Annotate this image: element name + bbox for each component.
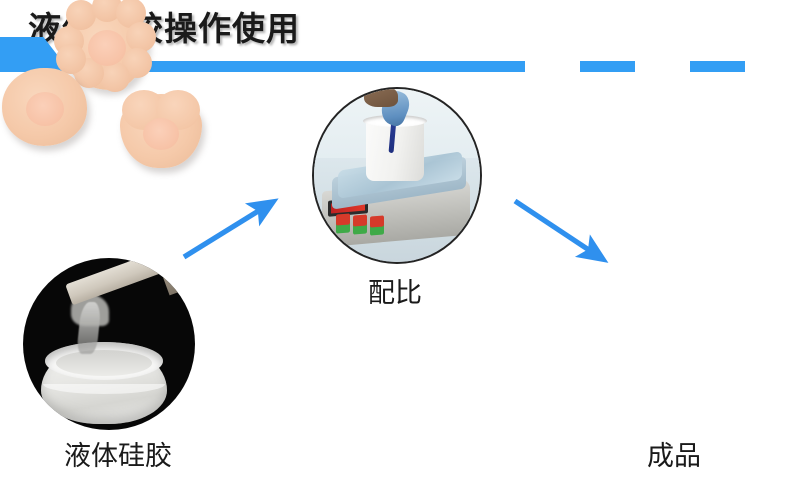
- header-bar-dash: [470, 61, 525, 72]
- silicone-pad-round-center: [26, 92, 64, 126]
- scale-button-red-1: [336, 213, 350, 225]
- silicone-pad-flower-center: [88, 30, 126, 66]
- scale-button-red-2: [353, 214, 367, 226]
- header-bar-dash: [580, 61, 635, 72]
- silicone-tub-inner: [56, 350, 152, 376]
- header-bar-dashes: [470, 61, 800, 72]
- caption-finished-products: 成品: [558, 440, 790, 472]
- arrow-silicone-to-mixing-icon: [170, 185, 290, 270]
- caption-proportioning: 配比: [312, 277, 478, 309]
- operator-hand: [364, 87, 398, 107]
- proportioning-photo: [312, 87, 482, 264]
- header-bar-dash: [690, 61, 745, 72]
- scale-button-red-3: [370, 215, 384, 227]
- silicone-spatula-tip: [162, 267, 194, 296]
- silicone-spatula: [65, 258, 178, 305]
- slide-root: 液体硅胶操作使用 液体硅胶 配比: [0, 0, 800, 498]
- arrow-mixing-to-products-icon: [505, 188, 625, 273]
- caption-liquid-silicone: 液体硅胶: [0, 440, 236, 472]
- liquid-silicone-photo: [23, 258, 195, 430]
- silicone-pad-heart-center: [143, 118, 179, 150]
